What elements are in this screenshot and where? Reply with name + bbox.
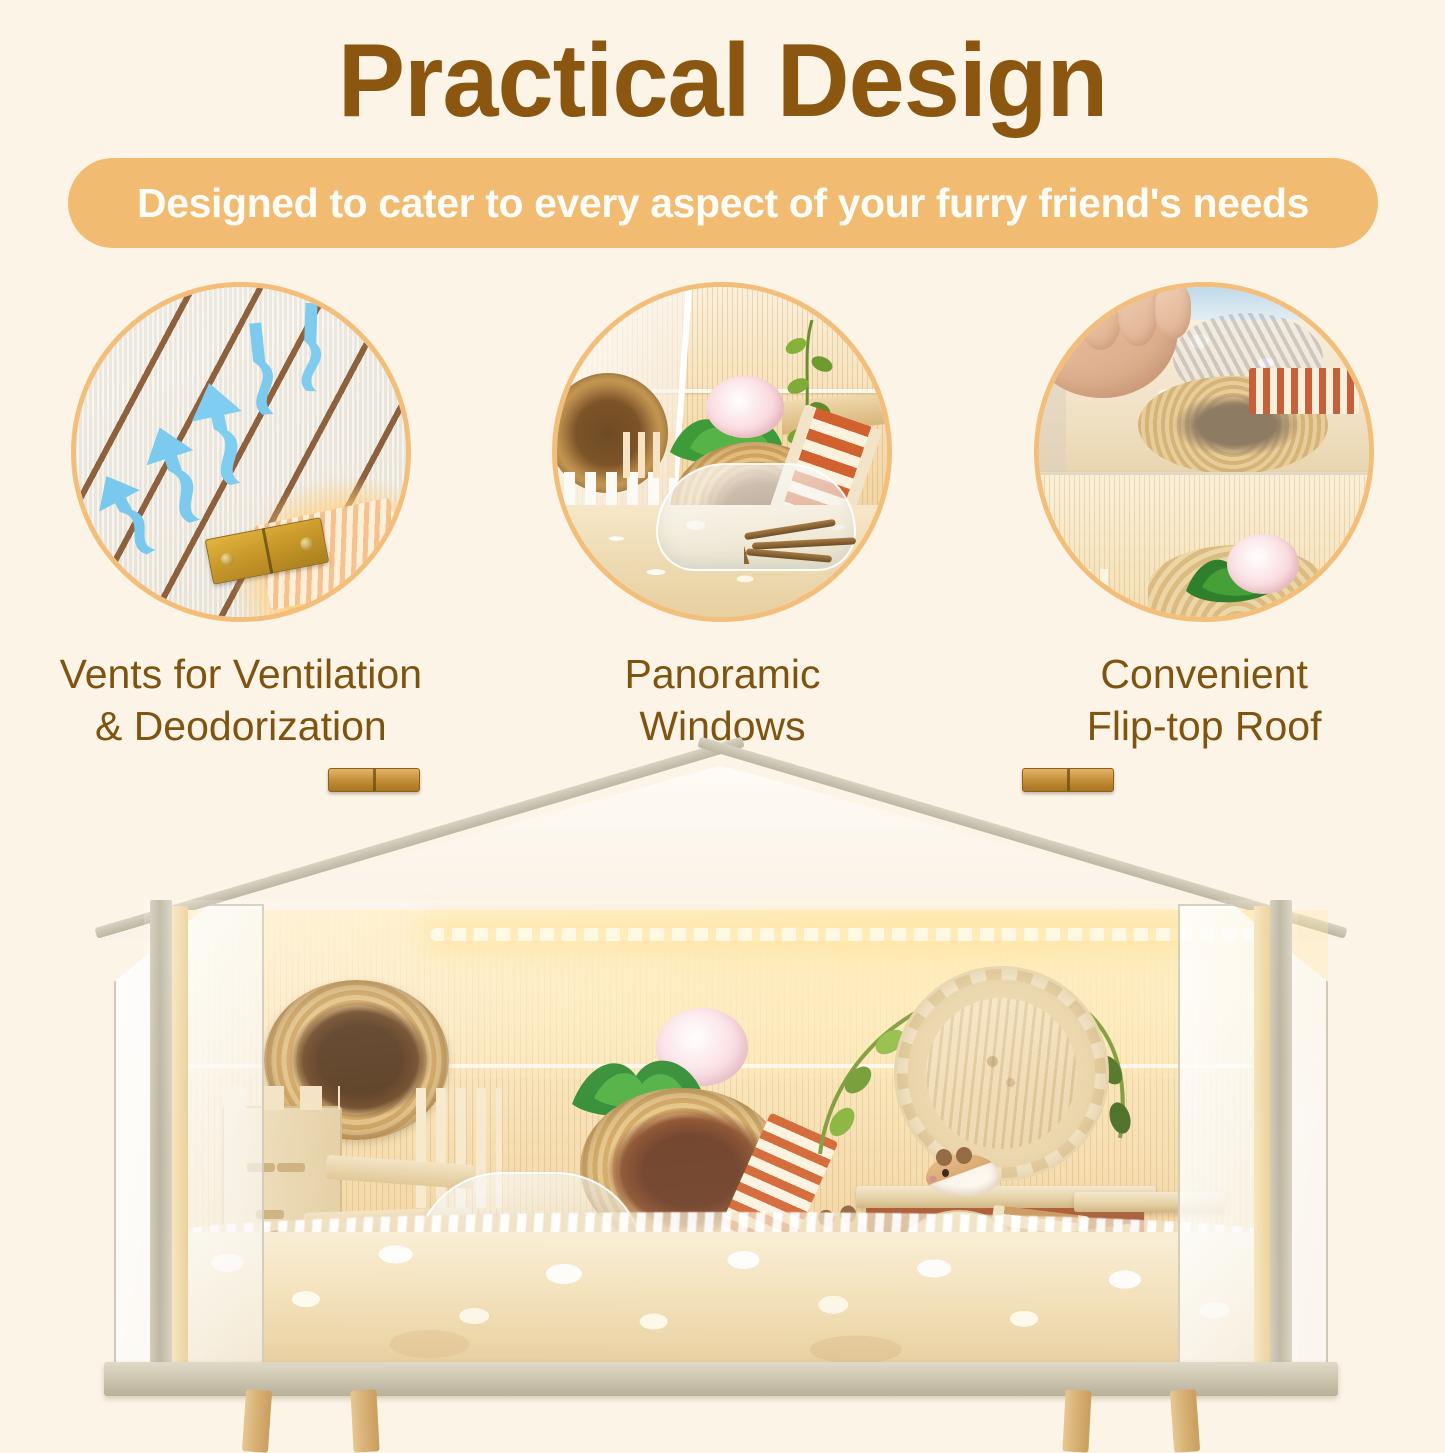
hamster-cage (96, 760, 1346, 1420)
finger (1079, 287, 1122, 350)
chew-sticks (744, 518, 874, 564)
brass-hinge (1022, 768, 1114, 792)
wood-picket-fence (1049, 569, 1115, 606)
cage-leg (1062, 1389, 1091, 1452)
feature-label-flip-top-roof: Convenient Flip-top Roof (1087, 648, 1322, 753)
pink-flower-decor (706, 376, 784, 438)
vent-photo (76, 287, 406, 617)
product-photo (0, 748, 1445, 1445)
feature-label-ventilation: Vents for Ventilation & Deodorization (60, 648, 422, 753)
corner-post-left (150, 900, 172, 1396)
brass-hinge (328, 768, 420, 792)
page-title: Practical Design (22, 24, 1424, 138)
subtitle-text: Designed to cater to every aspect of you… (137, 180, 1309, 227)
led-light-strip (430, 928, 1256, 941)
airflow-arrow-icon (280, 297, 338, 393)
wood-frame-left (172, 906, 188, 1393)
striped-ladder (1249, 368, 1359, 414)
cage-leg (242, 1389, 272, 1453)
feature-image-panoramic-windows (552, 282, 892, 622)
acrylic-side-panel-left (114, 904, 264, 1391)
flip-top-photo (1039, 287, 1369, 617)
panoramic-photo (557, 287, 887, 617)
cage-base-frame (104, 1362, 1338, 1396)
acrylic-side-panel-right (1178, 904, 1328, 1391)
cage-body (114, 910, 1328, 1378)
feature-ventilation: Vents for Ventilation & Deodorization (13, 282, 468, 753)
feature-image-ventilation (71, 282, 411, 622)
feature-label-panoramic-windows: Panoramic Windows (624, 648, 820, 753)
feature-panoramic-windows: Panoramic Windows (495, 282, 950, 753)
hamster (926, 1154, 1000, 1196)
finger (1118, 287, 1158, 346)
finger (1155, 287, 1191, 339)
feature-flip-top-roof: Convenient Flip-top Roof (977, 282, 1432, 753)
wood-shaving-bedding (160, 1232, 1282, 1372)
wood-frame-right (1254, 906, 1270, 1393)
wood-back-wall (1039, 475, 1369, 617)
feature-image-flip-top-roof (1034, 282, 1374, 622)
feature-row: Vents for Ventilation & Deodorization (0, 282, 1445, 753)
subtitle-banner: Designed to cater to every aspect of you… (68, 158, 1378, 248)
cage-leg (350, 1389, 379, 1452)
exercise-wheel (894, 966, 1109, 1181)
cage-leg (1170, 1389, 1200, 1453)
corner-post-right (1270, 900, 1292, 1396)
opened-roof-view (1039, 287, 1369, 472)
